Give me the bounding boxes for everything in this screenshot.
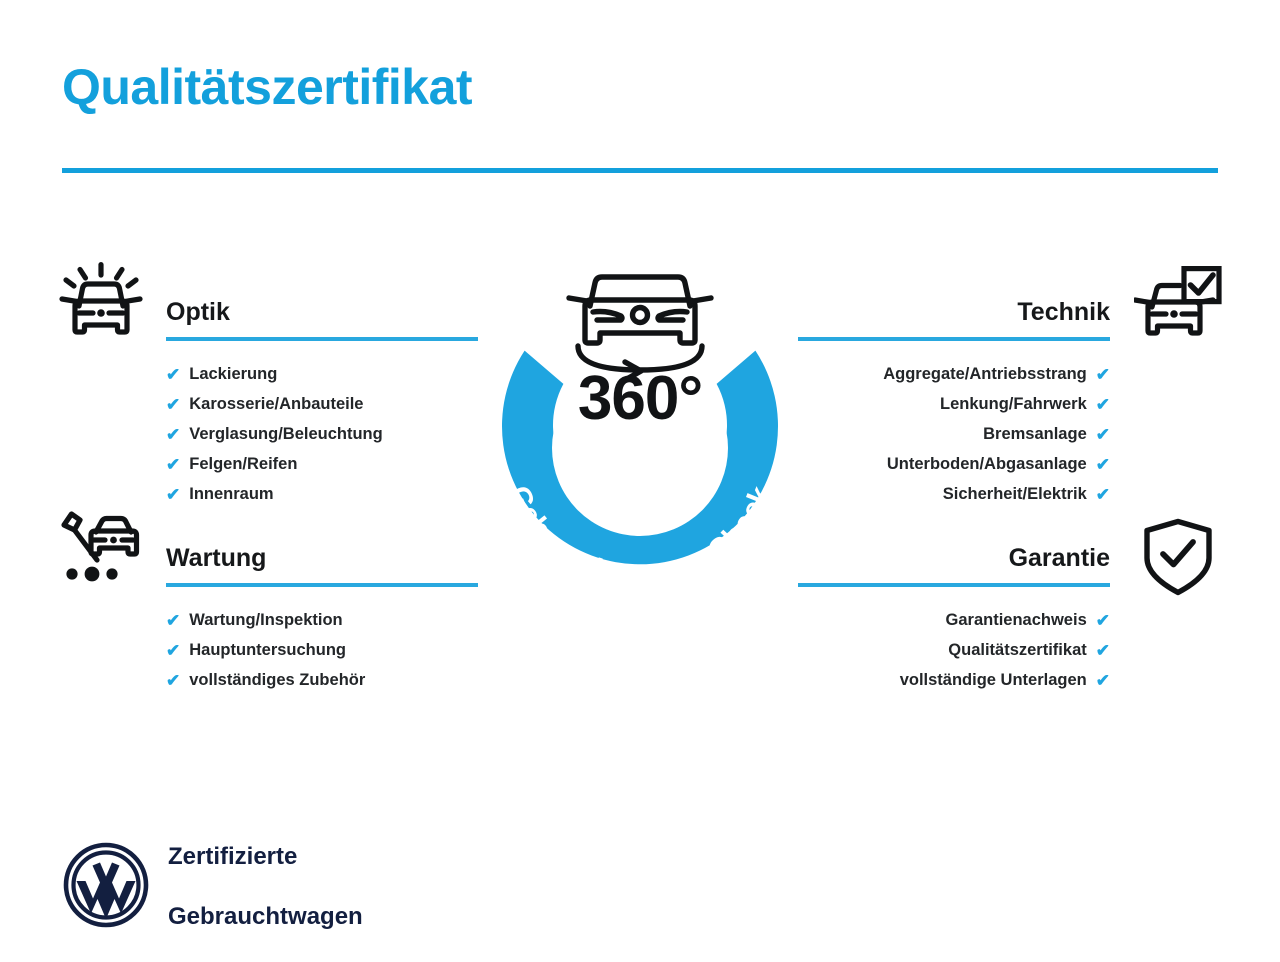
section-garantie: Garantie Garantienachweis✔ Qualitätszert… <box>798 546 1110 695</box>
list-item: ✔Innenraum <box>166 479 478 509</box>
wrench-car-icon <box>58 508 144 593</box>
section-heading: Technik <box>798 300 1110 325</box>
list-item: ✔Wartung/Inspektion <box>166 605 478 635</box>
check-icon: ✔ <box>1096 366 1110 383</box>
list-item-label: Felgen/Reifen <box>189 449 297 479</box>
list-item: ✔Felgen/Reifen <box>166 449 478 479</box>
check-icon: ✔ <box>1096 672 1110 689</box>
footer-line-2: Gebrauchtwagen <box>168 902 363 932</box>
list-item-label: Aggregate/Antriebsstrang <box>883 359 1087 389</box>
list-item-label: Bremsanlage <box>983 419 1087 449</box>
list-item: ✔vollständiges Zubehör <box>166 665 478 695</box>
check-icon: ✔ <box>166 486 180 503</box>
section-heading: Wartung <box>166 546 478 571</box>
list-item-label: vollständiges Zubehör <box>189 665 365 695</box>
check-icon: ✔ <box>166 396 180 413</box>
badge-center-text: 360° <box>462 368 818 430</box>
check-icon: ✔ <box>1096 456 1110 473</box>
list-item: ✔Karosserie/Anbauteile <box>166 389 478 419</box>
section-heading: Optik <box>166 300 478 325</box>
check-icon: ✔ <box>166 672 180 689</box>
check-icon: ✔ <box>166 456 180 473</box>
section-divider <box>798 337 1110 341</box>
list-item-label: Garantienachweis <box>946 605 1087 635</box>
section-divider <box>166 583 478 587</box>
car-shine-icon <box>58 262 144 349</box>
list-item: ✔Verglasung/Beleuchtung <box>166 419 478 449</box>
list-item: Qualitätszertifikat✔ <box>798 635 1110 665</box>
check-icon: ✔ <box>166 426 180 443</box>
footer-line-1: Zertifizierte <box>168 842 363 872</box>
list-item-label: Verglasung/Beleuchtung <box>189 419 382 449</box>
check-icon: ✔ <box>166 642 180 659</box>
list-item-label: Innenraum <box>189 479 273 509</box>
list-item-label: Wartung/Inspektion <box>189 605 342 635</box>
check-icon: ✔ <box>1096 642 1110 659</box>
list-item: Bremsanlage✔ <box>798 419 1110 449</box>
section-wartung: Wartung ✔Wartung/Inspektion ✔Hauptunters… <box>166 546 478 695</box>
check-icon: ✔ <box>1096 396 1110 413</box>
section-heading: Garantie <box>798 546 1110 571</box>
checklist-optik: ✔Lackierung ✔Karosserie/Anbauteile ✔Verg… <box>166 359 478 509</box>
list-item-label: Karosserie/Anbauteile <box>189 389 363 419</box>
check-icon: ✔ <box>1096 612 1110 629</box>
list-item: vollständige Unterlagen✔ <box>798 665 1110 695</box>
list-item: Lenkung/Fahrwerk✔ <box>798 389 1110 419</box>
list-item: ✔Lackierung <box>166 359 478 389</box>
list-item-label: vollständige Unterlagen <box>900 665 1087 695</box>
list-item-label: Lackierung <box>189 359 277 389</box>
shield-check-icon <box>1142 518 1214 601</box>
check-icon: ✔ <box>166 612 180 629</box>
section-divider <box>166 337 478 341</box>
list-item-label: Lenkung/Fahrwerk <box>940 389 1087 419</box>
check-icon: ✔ <box>1096 426 1110 443</box>
car-checkbox-icon <box>1134 266 1222 351</box>
list-item: Garantienachweis✔ <box>798 605 1110 635</box>
check-icon: ✔ <box>166 366 180 383</box>
checklist-wartung: ✔Wartung/Inspektion ✔Hauptuntersuchung ✔… <box>166 605 478 695</box>
list-item-label: Hauptuntersuchung <box>189 635 346 665</box>
header-divider <box>62 168 1218 173</box>
footer-brand: Zertifizierte Gebrauchtwagen <box>62 812 363 962</box>
list-item: Sicherheit/Elektrik✔ <box>798 479 1110 509</box>
section-divider <box>798 583 1110 587</box>
list-item-label: Unterboden/Abgasanlage <box>887 449 1087 479</box>
vw-logo <box>62 841 150 934</box>
list-item: Unterboden/Abgasanlage✔ <box>798 449 1110 479</box>
checklist-technik: Aggregate/Antriebsstrang✔ Lenkung/Fahrwe… <box>798 359 1110 509</box>
list-item: Aggregate/Antriebsstrang✔ <box>798 359 1110 389</box>
section-optik: Optik ✔Lackierung ✔Karosserie/Anbauteile… <box>166 300 478 509</box>
footer-text: Zertifizierte Gebrauchtwagen <box>168 812 363 962</box>
list-item-label: Qualitätszertifikat <box>948 635 1086 665</box>
list-item-label: Sicherheit/Elektrik <box>943 479 1087 509</box>
list-item: ✔Hauptuntersuchung <box>166 635 478 665</box>
certificate-page: Qualitätszertifikat <box>0 0 1280 960</box>
section-technik: Technik Aggregate/Antriebsstrang✔ Lenkun… <box>798 300 1110 509</box>
checklist-garantie: Garantienachweis✔ Qualitätszertifikat✔ v… <box>798 605 1110 695</box>
check-icon: ✔ <box>1096 486 1110 503</box>
gebrauchtwagen-check-badge: Gebrauchtwagen-Check 360° <box>462 252 818 618</box>
page-title: Qualitätszertifikat <box>62 62 472 112</box>
